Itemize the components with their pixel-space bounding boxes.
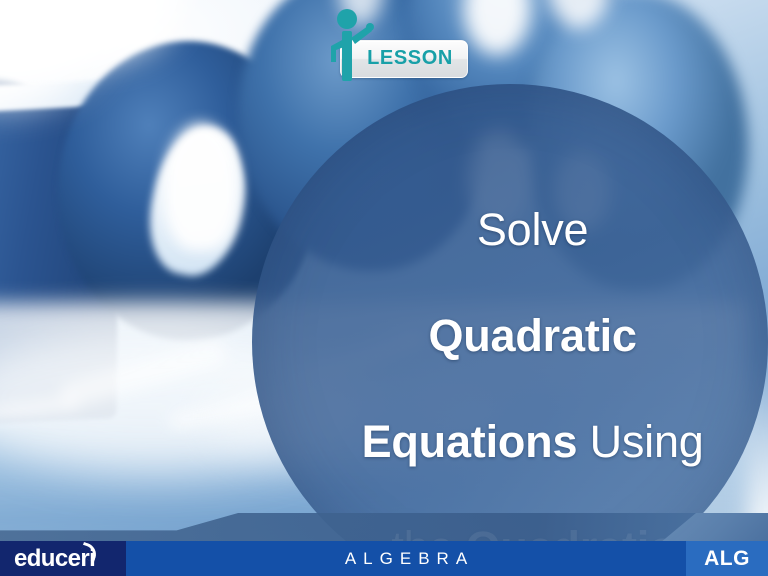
footer-bar: educeri ALGEBRA ALG [0,541,768,576]
title-word-using: Using [577,416,703,467]
title-word-equations: Equations [362,416,578,467]
title-word-solve: Solve [477,204,589,255]
subject-code-badge: ALG [686,541,768,576]
educeri-logo[interactable]: educeri [14,545,95,573]
lesson-title-slide: LESSON Solve Quadratic Equations Using t… [0,0,768,576]
teacher-figure-icon [322,6,384,84]
brand-block[interactable]: educeri [0,541,126,576]
title-word-quadratic-1: Quadratic [428,310,636,361]
subject-label: ALGEBRA [126,541,686,576]
page-title: Solve Quadratic Equations Using the Quad… [258,150,758,576]
lesson-badge: LESSON [322,6,472,82]
bokeh-highlight-3 [164,123,238,251]
